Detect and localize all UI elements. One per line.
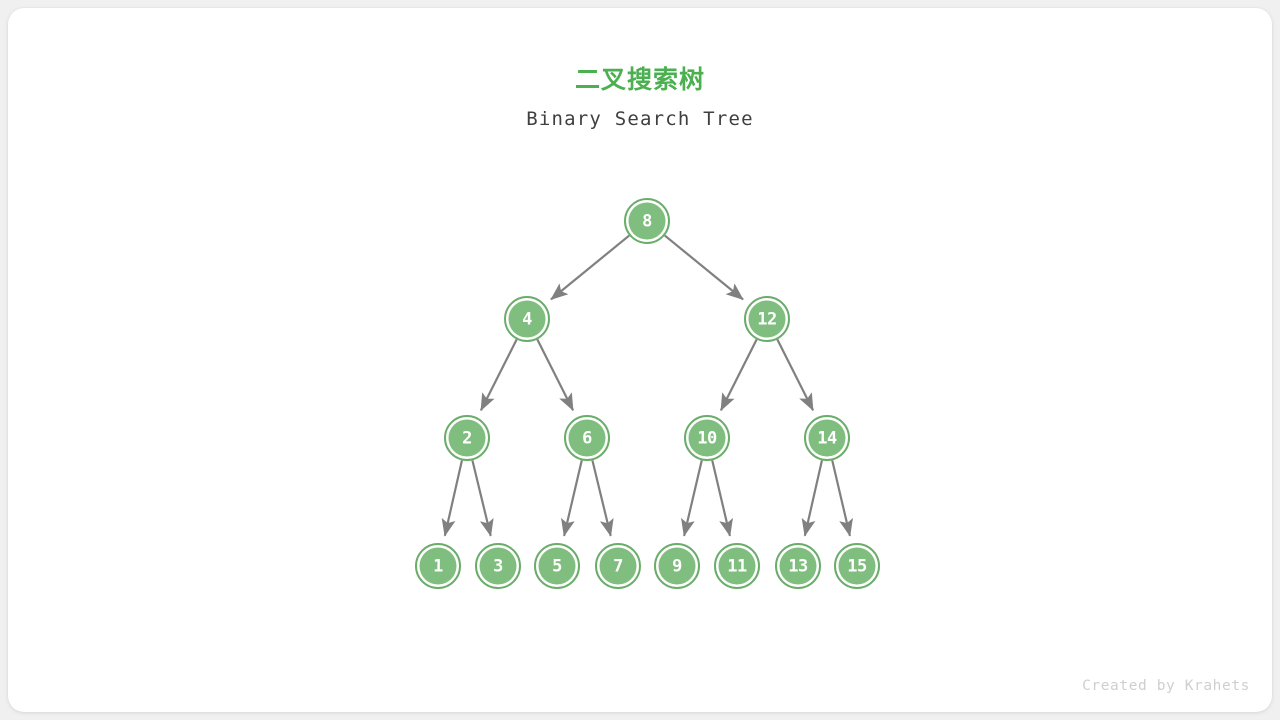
binary-search-tree-diagram: 841226101413579111315 [8, 8, 1272, 712]
diagram-card: 二叉搜索树 Binary Search Tree 841226101413579… [8, 8, 1272, 712]
tree-node[interactable]: 14 [805, 416, 849, 460]
tree-node-label: 12 [757, 310, 776, 330]
tree-node[interactable]: 8 [625, 199, 669, 243]
tree-node-label: 3 [493, 557, 503, 577]
tree-edge [472, 460, 490, 536]
tree-node-label: 9 [672, 557, 682, 577]
tree-edge [777, 340, 813, 411]
tree-node[interactable]: 4 [505, 297, 549, 341]
tree-node-label: 8 [642, 212, 652, 232]
tree-edge [721, 340, 757, 411]
tree-edge-layer [445, 236, 850, 536]
tree-node-label: 11 [727, 557, 747, 577]
tree-node[interactable]: 12 [745, 297, 789, 341]
tree-edge [481, 340, 517, 411]
tree-node[interactable]: 3 [476, 544, 520, 588]
tree-node[interactable]: 13 [776, 544, 820, 588]
tree-node-label: 10 [697, 429, 717, 449]
tree-node-label: 15 [847, 557, 867, 577]
tree-node[interactable]: 15 [835, 544, 879, 588]
tree-edge [592, 460, 610, 536]
tree-node[interactable]: 5 [535, 544, 579, 588]
tree-node-label: 4 [522, 310, 532, 330]
tree-node[interactable]: 2 [445, 416, 489, 460]
tree-node-label: 5 [552, 557, 562, 577]
tree-node-label: 1 [433, 557, 443, 577]
tree-node[interactable]: 7 [596, 544, 640, 588]
tree-edge [805, 460, 822, 535]
tree-edge [537, 340, 573, 411]
tree-node[interactable]: 1 [416, 544, 460, 588]
tree-node[interactable]: 11 [715, 544, 759, 588]
tree-node-label: 6 [582, 429, 592, 449]
credit-text: Created by Krahets [1082, 678, 1250, 694]
tree-node-label: 13 [788, 557, 808, 577]
tree-node-layer: 841226101413579111315 [416, 199, 879, 588]
tree-edge [551, 236, 629, 300]
tree-edge [445, 460, 462, 535]
tree-edge [684, 460, 702, 535]
tree-edge [832, 460, 850, 535]
tree-edge [564, 460, 582, 535]
tree-edge [712, 460, 730, 535]
tree-node[interactable]: 9 [655, 544, 699, 588]
tree-node-label: 7 [613, 557, 623, 577]
tree-node-label: 14 [817, 429, 837, 449]
tree-node-label: 2 [462, 429, 472, 449]
tree-node[interactable]: 6 [565, 416, 609, 460]
tree-edge [665, 236, 743, 300]
tree-node[interactable]: 10 [685, 416, 729, 460]
